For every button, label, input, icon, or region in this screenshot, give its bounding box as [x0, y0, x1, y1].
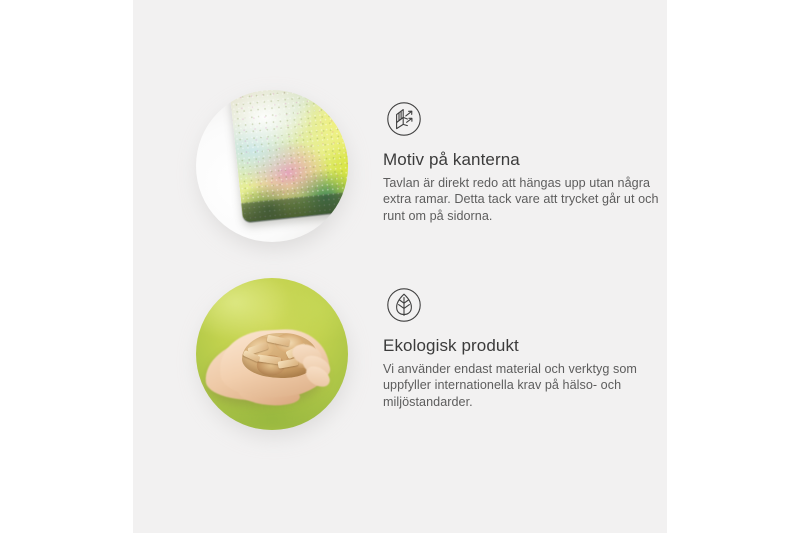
feature-block-motiv-pa-kanterna: Motiv på kanterna Tavlan är direkt redo … — [133, 80, 667, 270]
feature-block-ekologisk-produkt: Ekologisk produkt Vi använder endast mat… — [133, 268, 667, 458]
photo-circle — [196, 90, 348, 242]
infographic-root: Motiv på kanterna Tavlan är direkt redo … — [0, 0, 800, 533]
canvas-corner-photo — [196, 90, 348, 242]
left-letterbox-bar — [0, 0, 133, 533]
right-letterbox-bar — [667, 0, 800, 533]
canvas-corner-object — [229, 90, 348, 222]
photo-circle — [196, 278, 348, 430]
hands-wood-chips-photo — [196, 278, 348, 430]
feature-title: Ekologisk produkt — [383, 335, 659, 356]
feature-text-block: Ekologisk produkt Vi använder endast mat… — [383, 284, 659, 410]
feature-title: Motiv på kanterna — [383, 149, 659, 170]
feature-description: Tavlan är direkt redo att hängas upp uta… — [383, 175, 659, 224]
feature-description: Vi använder endast material och verktyg … — [383, 361, 659, 410]
wood-chip — [267, 335, 291, 346]
content-panel: Motiv på kanterna Tavlan är direkt redo … — [133, 0, 667, 533]
feature-text-block: Motiv på kanterna Tavlan är direkt redo … — [383, 98, 659, 224]
leaf-eco-icon — [383, 284, 425, 326]
canvas-wrapped-edge-icon — [383, 98, 425, 140]
